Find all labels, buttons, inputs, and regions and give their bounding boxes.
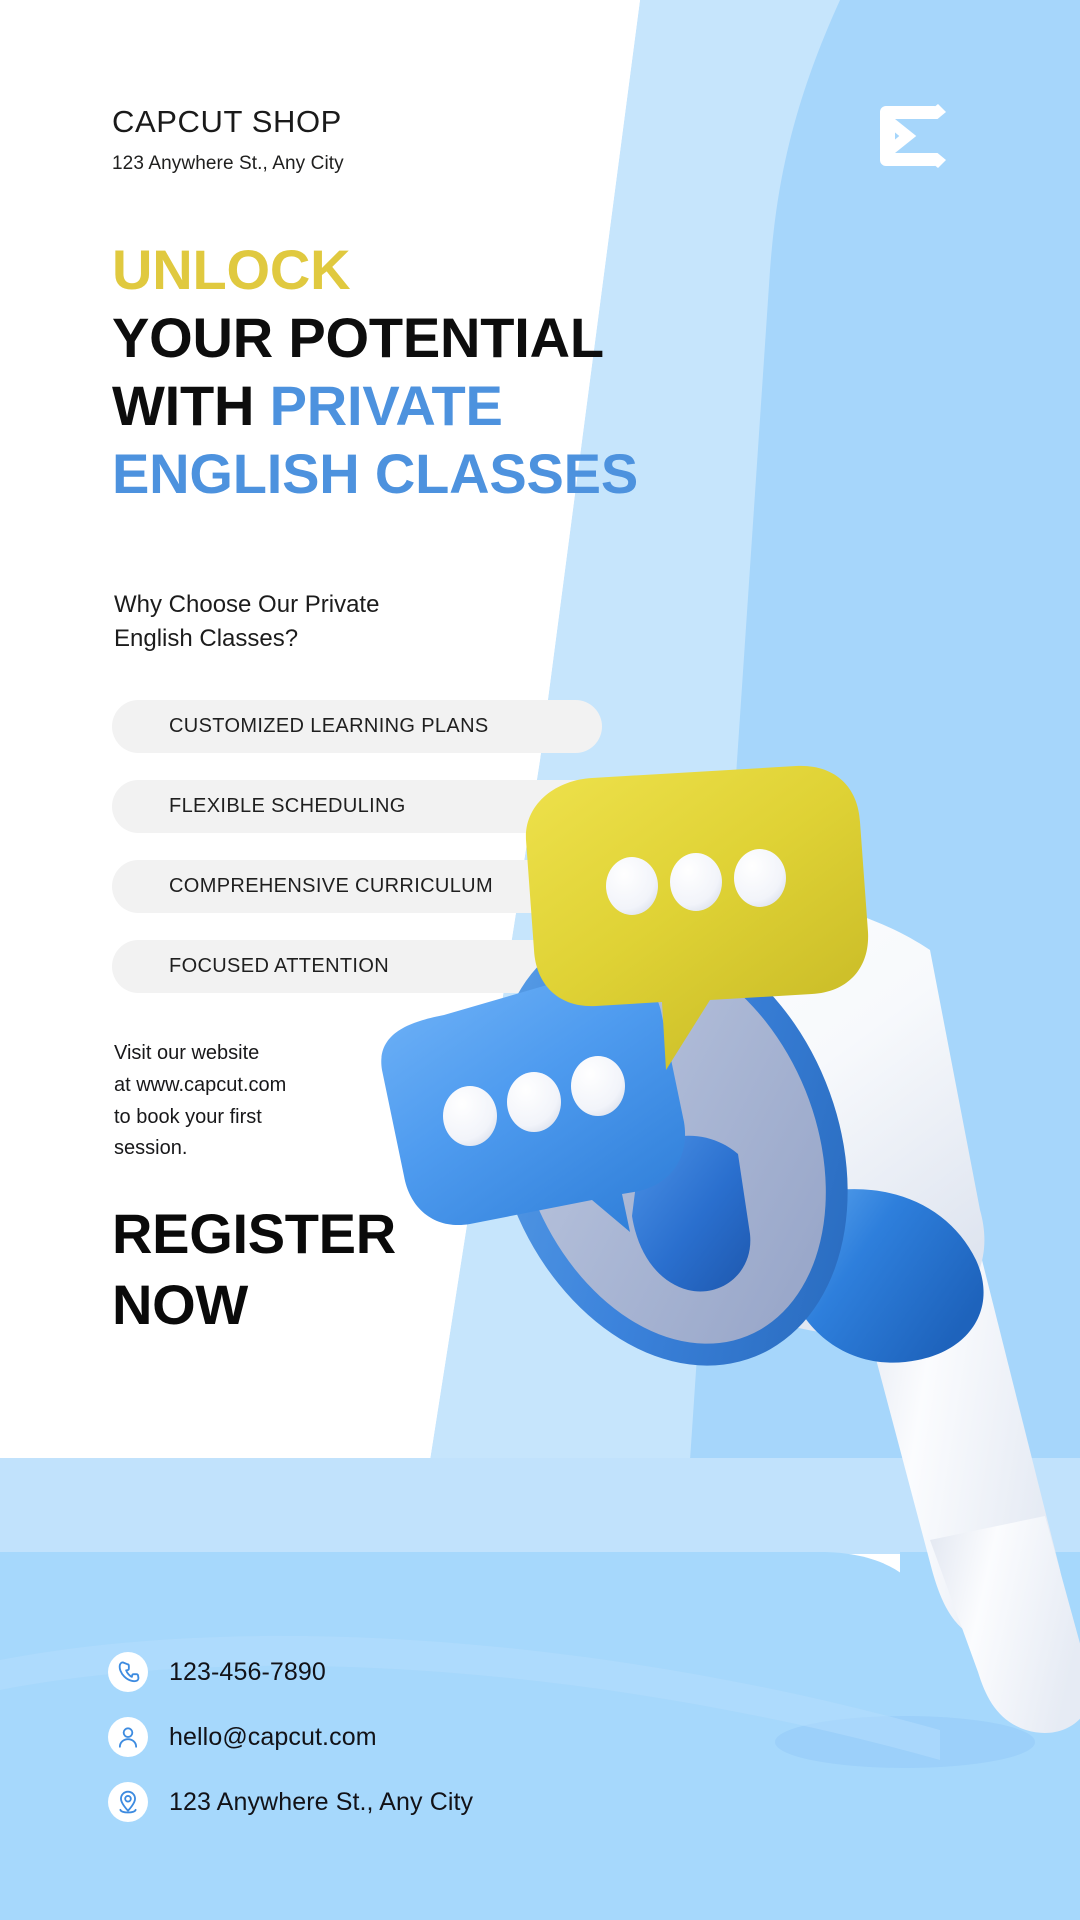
subheading-line-1: Why Choose Our Private — [114, 588, 534, 622]
website-note-line-3: to book your first — [114, 1102, 374, 1134]
phone-icon — [108, 1652, 148, 1692]
headline-line-4: ENGLISH CLASSES — [112, 440, 732, 508]
website-note-line-2: at www.capcut.com — [114, 1070, 374, 1102]
bubble-dot — [606, 857, 658, 915]
person-icon — [108, 1717, 148, 1757]
contact-phone-text: 123-456-7890 — [169, 1658, 326, 1687]
megaphone-3d-illustration — [370, 880, 1080, 1500]
megaphone-handle-tip — [930, 1516, 1080, 1733]
feature-pill-label: FLEXIBLE SCHEDULING — [169, 795, 406, 818]
contact-row-email[interactable]: hello@capcut.com — [108, 1715, 473, 1759]
website-note-line-4: session. — [114, 1133, 374, 1165]
headline-line-3-plain: WITH — [112, 374, 270, 437]
cta-line-2: NOW — [112, 1269, 396, 1340]
cta-line-1: REGISTER — [112, 1198, 396, 1269]
subheading: Why Choose Our Private English Classes? — [114, 588, 534, 656]
bubble-dot — [443, 1086, 497, 1146]
contact-row-address[interactable]: 123 Anywhere St., Any City — [108, 1780, 473, 1824]
bubble-dot — [670, 853, 722, 911]
subheading-line-2: English Classes? — [114, 622, 534, 656]
capcut-logo-icon[interactable] — [874, 100, 958, 172]
feature-pill[interactable]: CUSTOMIZED LEARNING PLANS — [112, 700, 602, 753]
bubble-dot — [734, 849, 786, 907]
contact-email-text: hello@capcut.com — [169, 1723, 377, 1752]
website-note-line-1: Visit our website — [114, 1038, 374, 1070]
bubble-dot — [507, 1072, 561, 1132]
headline-line-2: YOUR POTENTIAL — [112, 304, 732, 372]
feature-pill-label: FOCUSED ATTENTION — [169, 955, 389, 978]
brand-name: CAPCUT SHOP — [112, 105, 344, 139]
contact-row-phone[interactable]: 123-456-7890 — [108, 1650, 473, 1694]
brand-block: CAPCUT SHOP 123 Anywhere St., Any City — [112, 105, 344, 175]
headline-line-3-accent: PRIVATE — [270, 374, 503, 437]
headline: UNLOCK YOUR POTENTIAL WITH PRIVATE ENGLI… — [112, 236, 732, 508]
bubble-dot — [571, 1056, 625, 1116]
brand-address: 123 Anywhere St., Any City — [112, 153, 344, 175]
contact-address-text: 123 Anywhere St., Any City — [169, 1788, 473, 1817]
headline-line-3: WITH PRIVATE — [112, 372, 732, 440]
poster-canvas: CAPCUT SHOP 123 Anywhere St., Any City U… — [0, 0, 1080, 1920]
cta-register-now: REGISTER NOW — [112, 1198, 396, 1340]
headline-line-1: UNLOCK — [112, 236, 732, 304]
handle-shadow — [775, 1716, 1035, 1768]
feature-pill-label: CUSTOMIZED LEARNING PLANS — [169, 715, 489, 738]
location-pin-icon — [108, 1782, 148, 1822]
website-note: Visit our website at www.capcut.com to b… — [114, 1038, 374, 1165]
footer-contacts: 123-456-7890 hello@capcut.com 123 Anywhe… — [108, 1650, 473, 1845]
